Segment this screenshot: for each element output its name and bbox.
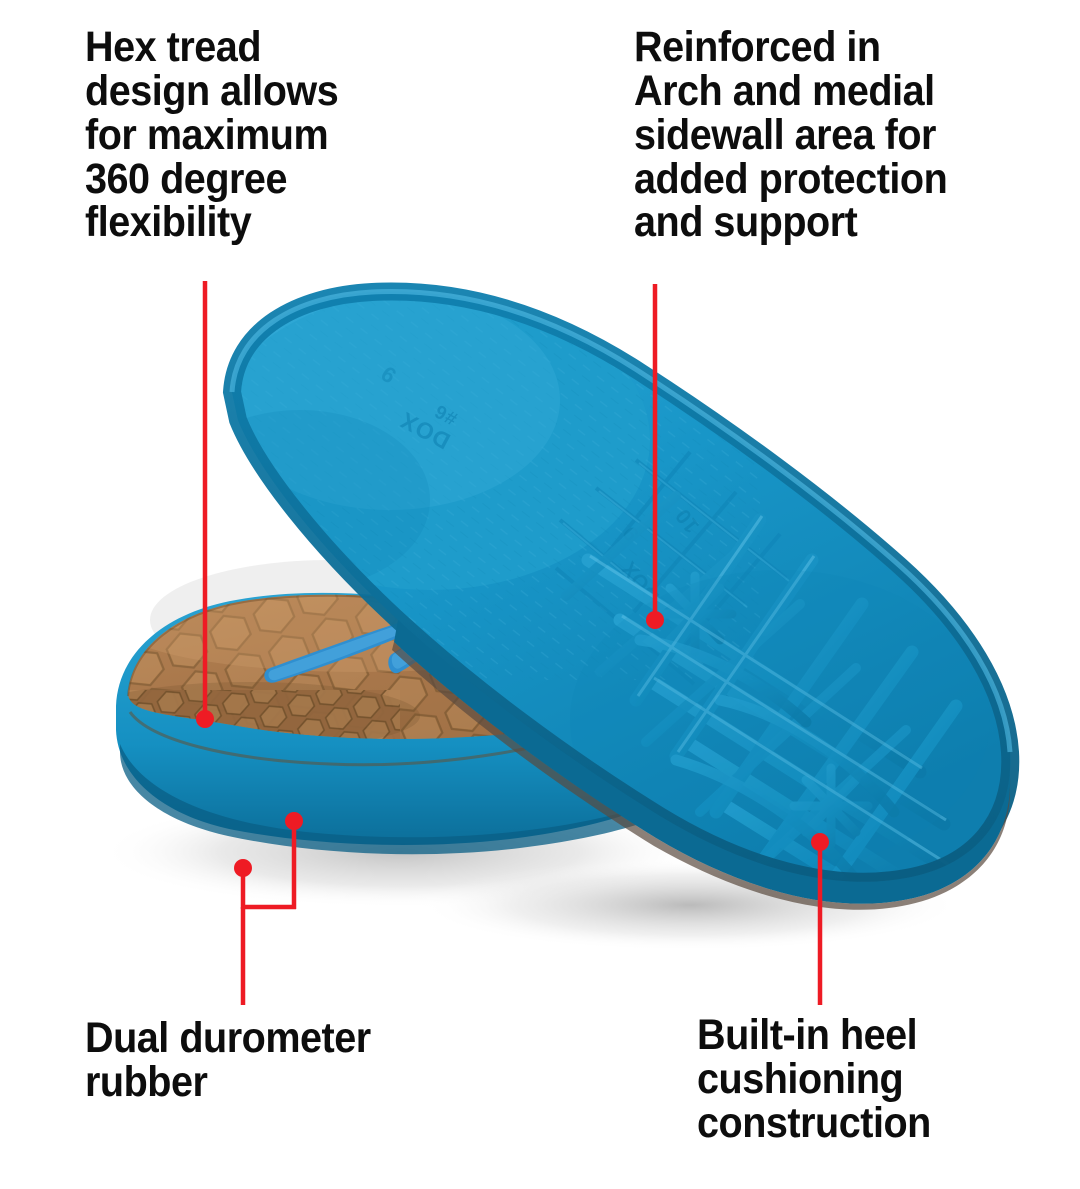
callout-hex-tread: Hex tread design allows for maximum 360 … (85, 26, 471, 245)
callout-reinforced-arch: Reinforced in Arch and medial sidewall a… (634, 26, 1066, 245)
callout-dual-durometer: Dual durometer rubber (85, 1017, 490, 1105)
callout-heel-cushioning: Built-in heel cushioning construction (697, 1014, 1065, 1146)
infographic-canvas: DOX #6 9 (0, 0, 1080, 1189)
